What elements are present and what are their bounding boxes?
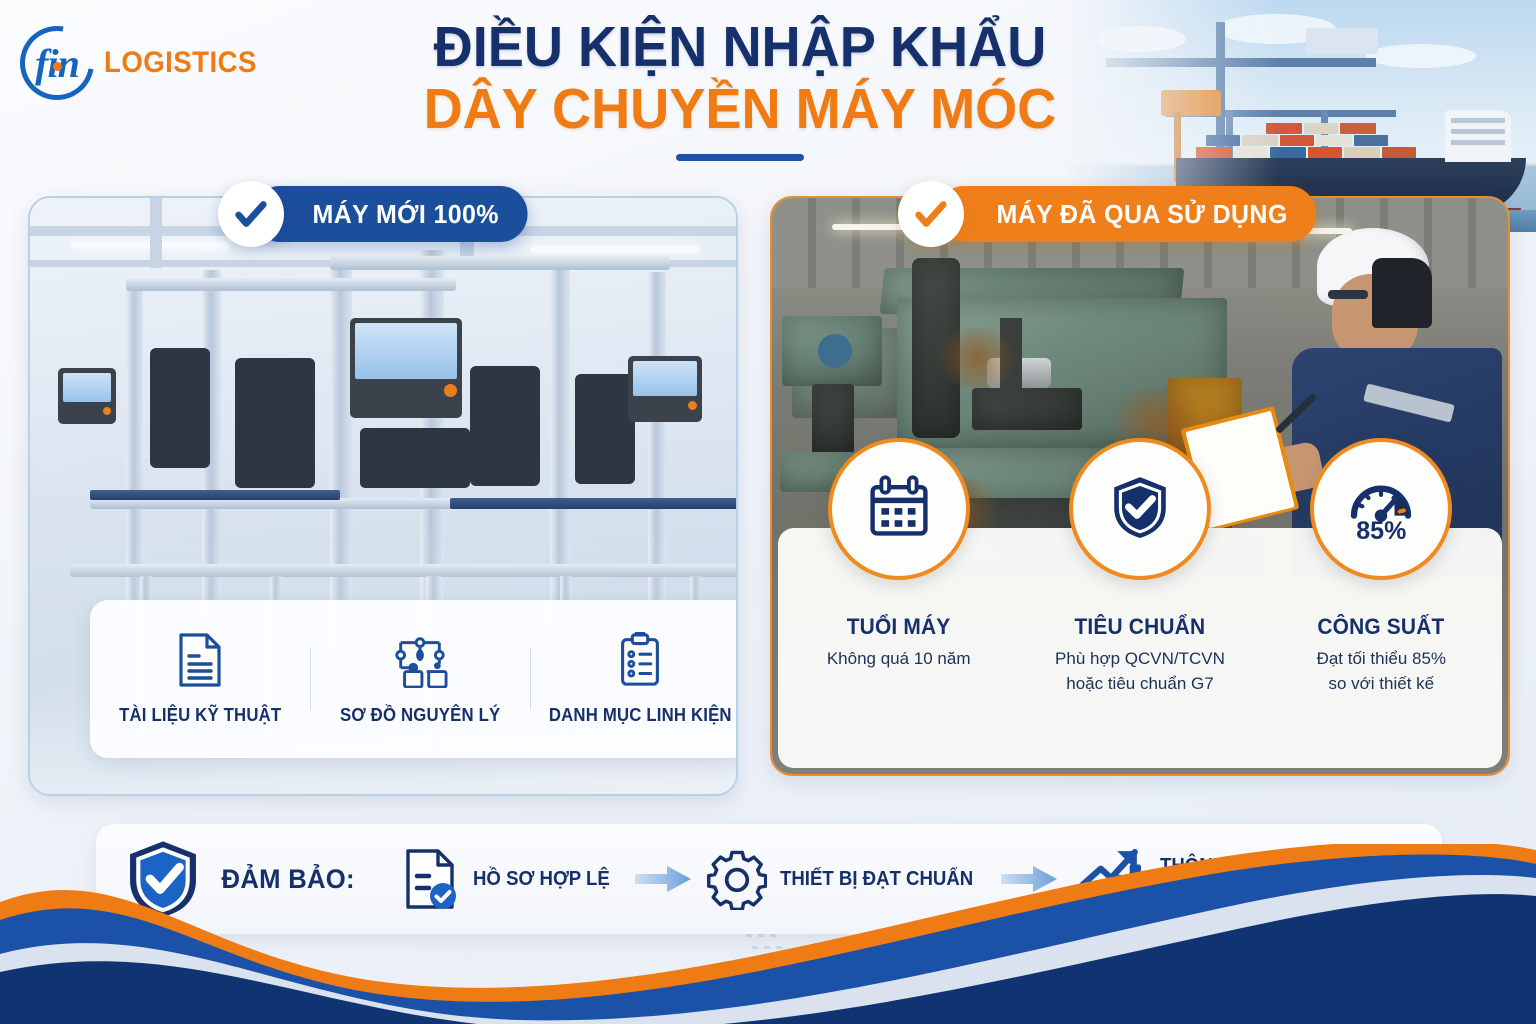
condition-desc: Phù hợp QCVN/TCVN hoặc tiêu chuẩn G7 [1055, 647, 1225, 696]
condition-title: TUỔI MÁY [847, 614, 951, 640]
condition-icon-circle: 85% [1310, 438, 1452, 580]
badge-label: MÁY MỚI 100% [313, 199, 499, 230]
badge-used-machines: MÁY ĐÃ QUA SỬ DỤNG [937, 186, 1316, 242]
schematic-icon [392, 632, 448, 693]
requirement-item-technical-docs[interactable]: TÀI LIỆU KỸ THUẬT [90, 632, 310, 726]
requirement-label: SƠ ĐỒ NGUYÊN LÝ [340, 705, 500, 726]
condition-title: CÔNG SUẤT [1318, 614, 1445, 640]
check-circle-icon-new [218, 181, 284, 247]
condition-item-capacity[interactable]: 85% CÔNG SUẤT Đạt tối thiểu 85% so với t… [1261, 528, 1502, 768]
brand-logo[interactable]: fin LOGISTICS [20, 26, 270, 100]
page-title: ĐIỀU KIỆN NHẬP KHẨU DÂY CHUYỀN MÁY MÓC [380, 18, 1100, 161]
fin-logo-icon: fin [20, 26, 94, 100]
requirement-item-parts-list[interactable]: DANH MỤC LINH KIỆN [530, 632, 738, 726]
requirement-item-schematic[interactable]: SƠ ĐỒ NGUYÊN LÝ [310, 632, 530, 726]
condition-item-machine-age[interactable]: TUỔI MÁY Không quá 10 năm [778, 528, 1019, 768]
title-line-2: DÂY CHUYỀN MÁY MÓC [398, 80, 1082, 140]
title-underline [676, 154, 804, 161]
check-circle-icon-used [898, 181, 964, 247]
footer-wave-decoration [0, 844, 1536, 1024]
condition-desc: Đạt tối thiểu 85% so với thiết kế [1317, 647, 1446, 696]
new-machine-requirements-card: TÀI LIỆU KỸ THUẬT SƠ ĐỒ NGUYÊN LÝ DANH M… [90, 600, 738, 758]
calendar-icon [866, 474, 932, 545]
panel-new-machines: TÀI LIỆU KỸ THUẬT SƠ ĐỒ NGUYÊN LÝ DANH M… [28, 196, 738, 796]
requirement-label: DANH MỤC LINH KIỆN [549, 705, 732, 726]
condition-icon-circle [828, 438, 970, 580]
title-line-1: ĐIỀU KIỆN NHẬP KHẨU [398, 18, 1082, 78]
condition-desc: Không quá 10 năm [827, 647, 971, 672]
badge-label: MÁY ĐÃ QUA SỬ DỤNG [997, 199, 1288, 230]
condition-icon-circle [1069, 438, 1211, 580]
shield-check-icon [1107, 474, 1173, 545]
panel-used-machines: TUỔI MÁY Không quá 10 năm TIÊU CHUẨN Phù… [770, 196, 1510, 776]
infographic-canvas: fin LOGISTICS ĐIỀU KIỆN NHẬP KHẨU DÂY CH… [0, 0, 1536, 1024]
condition-item-standard[interactable]: TIÊU CHUẨN Phù hợp QCVN/TCVN hoặc tiêu c… [1019, 528, 1260, 768]
checklist-clipboard-icon [612, 632, 668, 693]
badge-new-machines: MÁY MỚI 100% [253, 186, 528, 242]
logo-wordmark: LOGISTICS [104, 46, 257, 80]
document-icon [172, 632, 228, 693]
gauge-value: 85% [1356, 517, 1406, 546]
condition-title: TIÊU CHUẨN [1075, 614, 1206, 640]
requirement-label: TÀI LIỆU KỸ THUẬT [119, 705, 281, 726]
used-machine-conditions-card: TUỔI MÁY Không quá 10 năm TIÊU CHUẨN Phù… [778, 528, 1502, 768]
